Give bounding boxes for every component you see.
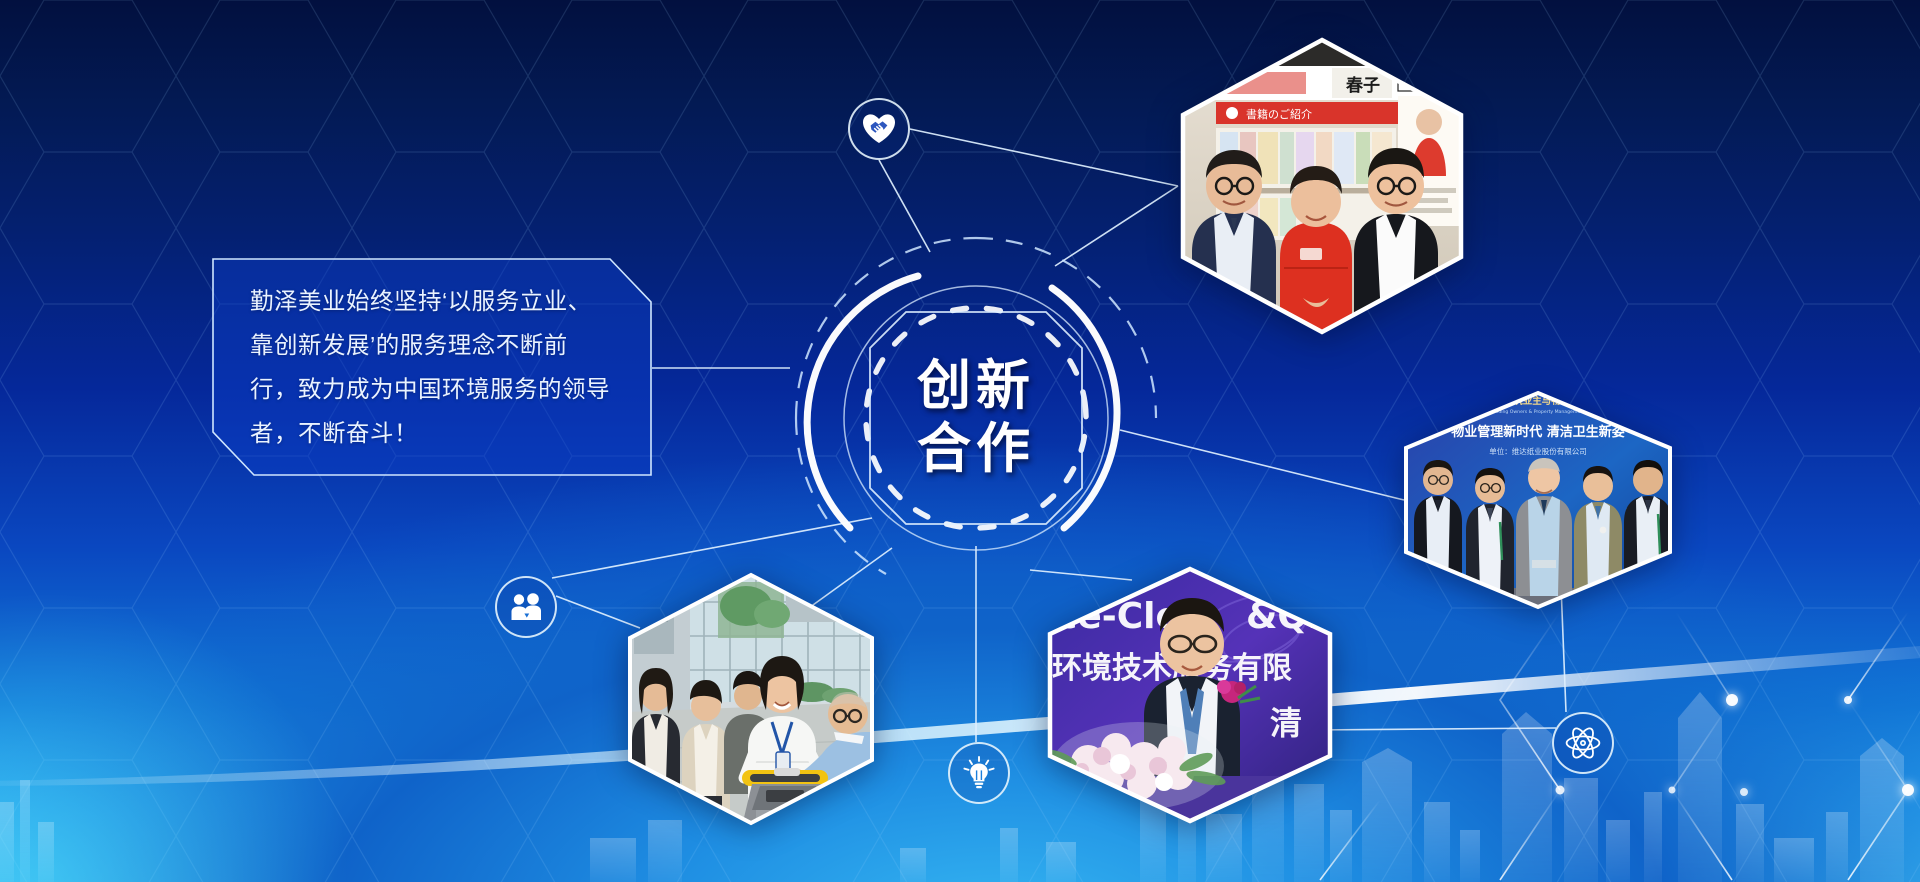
handshake-heart-glyph xyxy=(862,113,896,145)
emblem-title: 创新 合作 xyxy=(790,355,1162,481)
hex-photo-conference-group[interactable]: 2019上海国际建筑业主与物业管理产业创新发 2019 Shanghai Int… xyxy=(1402,390,1674,610)
atom-icon[interactable] xyxy=(1552,712,1614,774)
lightbulb-glyph xyxy=(962,756,996,790)
quote-line: 者，不断奋斗！ xyxy=(250,411,610,455)
svg-text:单位：维达纸业股份有限公司: 单位：维达纸业股份有限公司 xyxy=(1489,446,1587,456)
hex-photo-award-bookstore-art: 春子 全仕事 書籍のご紹介 xyxy=(1176,36,1468,336)
hex-photo-keynote-speaker[interactable]: ce-Clo &Q2 环境技术服务有限 清 服务业联盟系列活 xyxy=(1046,566,1334,824)
banner-stage: 勤泽美业始终坚持‘以服务立业、 靠创新发展’的服务理念不断前 行，致力成为中国环… xyxy=(0,0,1920,882)
svg-text:物业管理新时代 清洁卫生新姿: 物业管理新时代 清洁卫生新姿 xyxy=(1451,424,1625,440)
quote-line: 靠创新发展’的服务理念不断前 xyxy=(250,323,610,367)
svg-text:春子: 春子 xyxy=(1346,75,1380,96)
quote-text: 勤泽美业始终坚持‘以服务立业、 靠创新发展’的服务理念不断前 行，致力成为中国环… xyxy=(250,279,610,455)
two-people-glyph xyxy=(510,593,542,621)
quote-panel: 勤泽美业始终坚持‘以服务立业、 靠创新发展’的服务理念不断前 行，致力成为中国环… xyxy=(212,258,652,476)
hex-photo-equipment-training-art xyxy=(626,572,876,826)
handshake-heart-icon[interactable] xyxy=(848,98,910,160)
hex-photo-award-bookstore[interactable]: 春子 全仕事 書籍のご紹介 xyxy=(1176,36,1468,336)
lightbulb-icon[interactable] xyxy=(948,742,1010,804)
emblem-title-line: 合作 xyxy=(790,418,1162,481)
svg-text:清: 清 xyxy=(1270,704,1302,742)
svg-text:2019 Shanghai International Bu: 2019 Shanghai International Building Own… xyxy=(1423,409,1653,415)
atom-glyph xyxy=(1565,726,1601,760)
quote-line: 行，致力成为中国环境服务的领导 xyxy=(250,367,610,411)
hex-photo-conference-group-art: 2019上海国际建筑业主与物业管理产业创新发 2019 Shanghai Int… xyxy=(1402,390,1674,610)
two-people-icon[interactable] xyxy=(495,576,557,638)
central-emblem: 创新 合作 xyxy=(790,232,1162,604)
quote-line: 勤泽美业始终坚持‘以服务立业、 xyxy=(250,279,610,323)
emblem-title-line: 创新 xyxy=(790,355,1162,418)
hex-photo-equipment-training[interactable] xyxy=(626,572,876,826)
svg-text:2019上海国际建筑业主与物业管理产业创新发: 2019上海国际建筑业主与物业管理产业创新发 xyxy=(1439,395,1637,407)
hex-photo-keynote-speaker-art: ce-Clo &Q2 环境技术服务有限 清 服务业联盟系列活 xyxy=(1046,566,1334,824)
svg-text:書籍のご紹介: 書籍のご紹介 xyxy=(1246,107,1312,121)
